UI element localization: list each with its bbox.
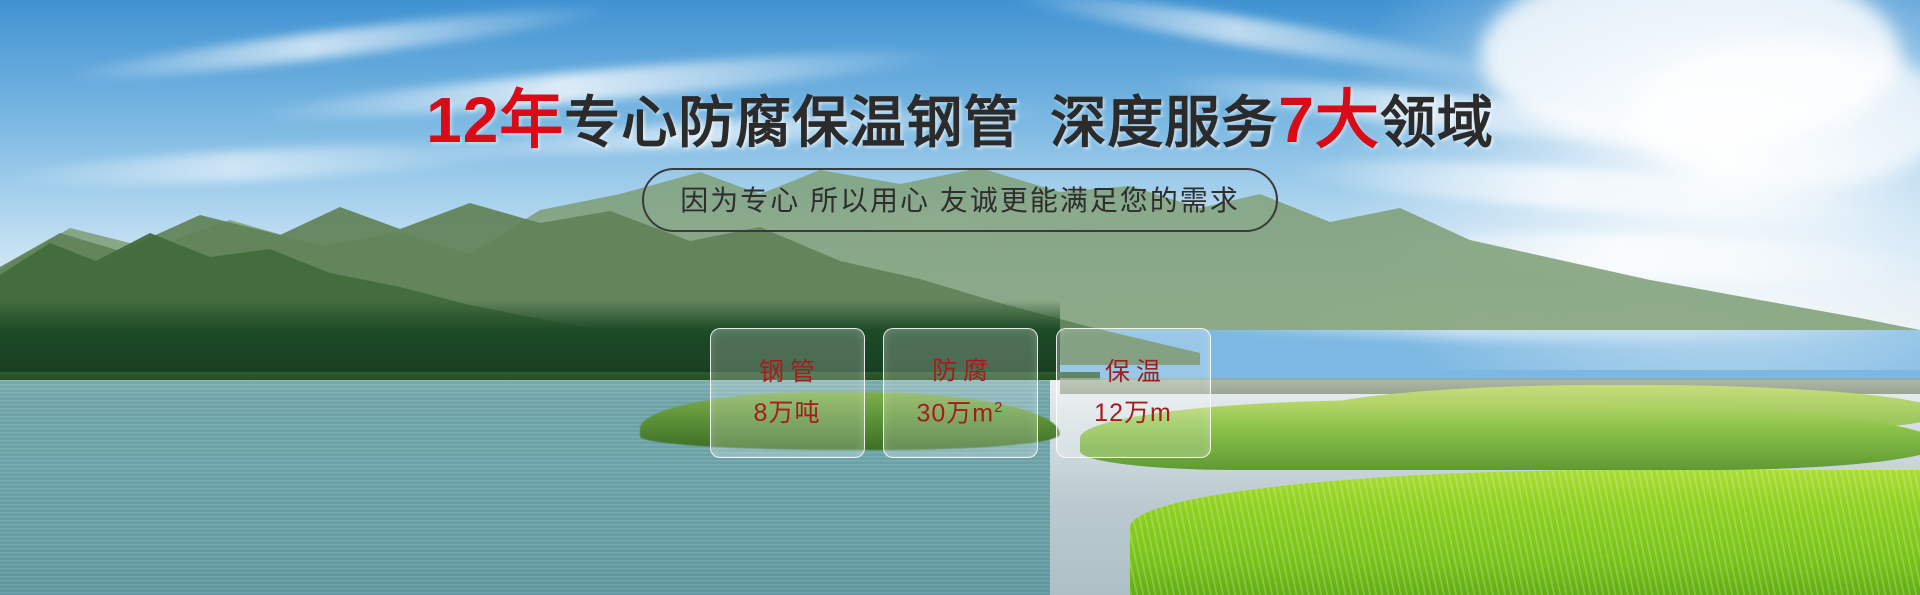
stat-card-value-text: 8万吨	[754, 399, 821, 427]
headline-fields: 领域	[1380, 91, 1494, 154]
headline-fields-count: 7大	[1278, 84, 1380, 156]
stat-card-value-text: 30万m	[917, 400, 995, 428]
stat-card-value-superscript: 2	[994, 399, 1003, 416]
headline-service: 深度服务	[1050, 91, 1278, 154]
stat-card-label: 钢管	[753, 360, 821, 385]
stat-card-value: 30万m2	[917, 400, 1004, 426]
stat-card-insulation[interactable]: 保温 12万m	[1056, 328, 1211, 458]
stat-card-steel-pipe[interactable]: 钢管 8万吨	[710, 328, 865, 458]
stat-cards: 钢管 8万吨 防腐 30万m2 保温 12万m	[0, 328, 1920, 458]
banner-headline: 12年专心防腐保温钢管深度服务7大领域	[0, 88, 1920, 152]
stat-card-label: 保温	[1099, 360, 1167, 385]
stat-card-value: 8万吨	[754, 401, 821, 426]
hero-banner: 12年专心防腐保温钢管深度服务7大领域 因为专心 所以用心 友诚更能满足您的需求…	[0, 0, 1920, 595]
headline-years: 12年	[426, 84, 564, 156]
banner-subtitle-wrap: 因为专心 所以用心 友诚更能满足您的需求	[0, 168, 1920, 232]
stat-card-anticorrosion[interactable]: 防腐 30万m2	[883, 328, 1038, 458]
stat-card-label: 防腐	[926, 359, 994, 384]
banner-content: 12年专心防腐保温钢管深度服务7大领域 因为专心 所以用心 友诚更能满足您的需求…	[0, 0, 1920, 595]
headline-main: 专心防腐保温钢管	[564, 91, 1020, 154]
stat-card-value: 12万m	[1094, 401, 1172, 426]
banner-subtitle: 因为专心 所以用心 友诚更能满足您的需求	[642, 168, 1278, 232]
stat-card-value-text: 12万m	[1094, 399, 1172, 427]
